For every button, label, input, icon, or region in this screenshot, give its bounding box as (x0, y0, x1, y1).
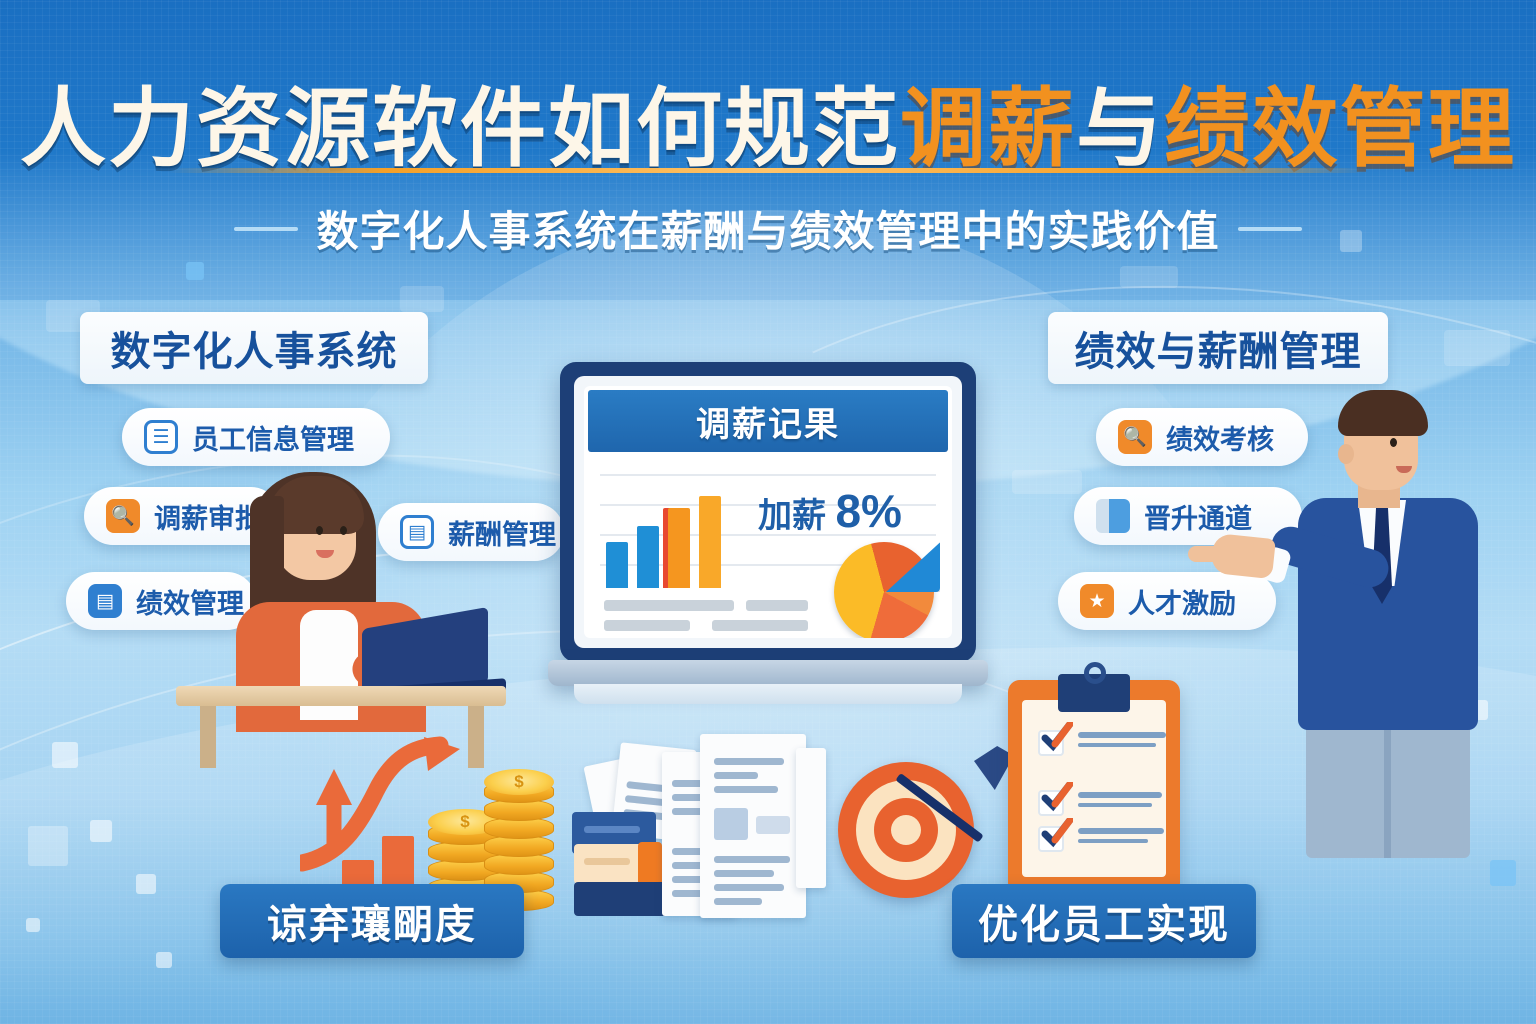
app-content-area: 加薪 8% (596, 460, 940, 638)
laptop-illustration: 调薪记果 加薪 (548, 362, 988, 722)
laptop-lid: 调薪记果 加薪 (560, 362, 976, 662)
laptop-front-edge (574, 684, 962, 704)
title-highlight-2: 绩效管理 (1164, 81, 1516, 177)
text-line (1078, 732, 1166, 738)
salary-search-icon: 🔍 (106, 499, 140, 533)
desk-surface (176, 686, 506, 706)
bottom-banner-right[interactable]: 优化员工实现 (952, 884, 1256, 958)
clipboard-clip-ring (1084, 662, 1106, 684)
man-eye (1390, 438, 1397, 447)
review-search-icon: 🔍 (1118, 420, 1152, 454)
binder-stripe (584, 826, 640, 833)
infographic-canvas: 人力资源软件如何规范调薪与绩效管理 数字化人事系统在薪酬与绩效管理中的实践价值 … (0, 0, 1536, 1024)
placeholder-line-4 (712, 620, 808, 631)
star-icon: ★ (1080, 584, 1114, 618)
bar-1 (606, 542, 628, 588)
check-icon (1041, 722, 1073, 752)
check-icon (1041, 782, 1073, 812)
floating-square-2 (28, 826, 68, 866)
grid-line-1 (600, 474, 936, 476)
check-icon (1041, 818, 1073, 848)
placeholder-line-2 (604, 620, 690, 631)
laptop-bezel: 调薪记果 加薪 (574, 376, 962, 648)
text-line (1078, 792, 1162, 798)
floating-square-1 (52, 742, 78, 768)
coin-top-face: $ (484, 769, 554, 795)
man-leg-split (1384, 724, 1391, 858)
title-part-2: 与 (1076, 81, 1164, 177)
feature-pill-label: 晋升通道 (1144, 497, 1252, 536)
binder-stripe (584, 858, 630, 865)
man-hair (1338, 390, 1428, 436)
page-title: 人力资源软件如何规范调薪与绩效管理 (0, 58, 1536, 183)
app-window-title: 调薪记果 (696, 397, 840, 446)
floating-square-9 (1490, 860, 1516, 886)
section-header-left: 数字化人事系统 (80, 312, 428, 384)
doc-text-line (714, 786, 778, 793)
doc-text-line (714, 758, 784, 765)
man-ear (1338, 444, 1354, 464)
title-highlight-1: 调薪 (900, 81, 1076, 177)
clipboard-paper (1022, 700, 1166, 877)
subtitle-row: 数字化人事系统在薪酬与绩效管理中的实践价值 (0, 198, 1536, 259)
doc-chart-block-2 (756, 816, 790, 834)
feature-pill-label: 人才激励 (1128, 582, 1236, 621)
feature-pill-label: 员工信息管理 (192, 418, 354, 457)
doc-text-line (714, 870, 774, 877)
bar-2 (637, 526, 659, 588)
laptop-base (548, 660, 988, 686)
app-title-bar: 调薪记果 (588, 390, 948, 452)
title-underline (168, 168, 1368, 173)
page-subtitle: 数字化人事系统在薪酬与绩效管理中的实践价值 (316, 198, 1219, 259)
document-front (700, 734, 806, 918)
checklist-item (1038, 824, 1166, 860)
document-edge (796, 748, 826, 888)
illustration-woman-at-desk (176, 462, 506, 722)
placeholder-line-3 (746, 600, 808, 611)
doc-text-line (714, 884, 784, 891)
bar-3 (668, 508, 690, 588)
binder-navy (574, 882, 670, 916)
doc-text-line (714, 898, 762, 905)
subtitle-dash-right (1238, 227, 1302, 231)
bar-chart (606, 496, 721, 588)
woman-eye-right (340, 526, 347, 535)
pie-chart (834, 538, 938, 638)
text-line (1078, 839, 1148, 843)
checklist-item (1038, 728, 1166, 764)
bg-block-5 (1120, 266, 1178, 288)
checklist-text-lines (1078, 732, 1168, 752)
floating-square-3 (90, 820, 112, 842)
calendar-icon: ▤ (88, 584, 122, 618)
feature-pill-employee-info[interactable]: ☰ 员工信息管理 (122, 408, 390, 466)
text-line (1078, 828, 1164, 834)
illustration-man-pointing (1240, 388, 1490, 858)
checklist-clipboard-illustration (1008, 680, 1180, 895)
floating-square-6 (156, 952, 172, 968)
laptop-screen: 调薪记果 加薪 (584, 386, 952, 638)
floating-square-10 (186, 262, 204, 280)
checklist-text-lines (1078, 792, 1168, 812)
kpi-readout: 加薪 8% (758, 484, 902, 538)
bar-4 (699, 496, 721, 588)
bottom-banner-left[interactable]: 谅弃瓖朙庋 (220, 884, 524, 958)
kpi-label: 加薪 (758, 497, 826, 535)
floating-square-5 (26, 918, 40, 932)
doc-text-line (714, 772, 758, 779)
doc-chart-block (714, 808, 748, 840)
bg-block-4 (400, 286, 444, 312)
doc-text-line (714, 856, 790, 863)
binder-orange-tab (638, 842, 662, 886)
checklist-text-lines (1078, 828, 1168, 848)
woman-eye-left (316, 526, 323, 535)
desk-leg-left (200, 706, 216, 768)
title-part-1: 人力资源软件如何规范 (20, 81, 900, 177)
subtitle-dash-left (234, 227, 298, 231)
floating-square-4 (136, 874, 156, 894)
id-card-icon: ☰ (144, 420, 178, 454)
section-header-right: 绩效与薪酬管理 (1048, 312, 1388, 384)
target-with-arrow-illustration (838, 762, 974, 898)
target-bullseye (891, 815, 921, 845)
text-line (1078, 743, 1156, 747)
text-line (1078, 803, 1152, 807)
kpi-value: 8% (835, 485, 901, 537)
man-index-finger (1188, 546, 1232, 562)
bar-progress-icon (1096, 499, 1130, 533)
placeholder-line-1 (604, 600, 734, 611)
